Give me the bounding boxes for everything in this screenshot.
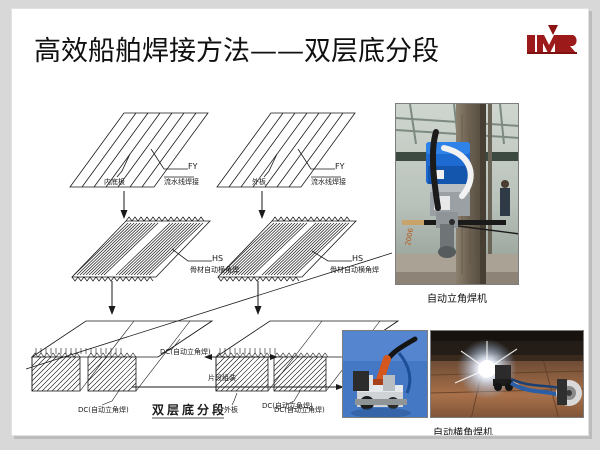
label-fy-left-cn: 流水线焊接 bbox=[164, 177, 199, 187]
label-fy-right-code: FY bbox=[335, 162, 345, 171]
label-weld-join: 片段组装 bbox=[208, 373, 236, 383]
arrow-stage1-to-stage2-right bbox=[259, 191, 266, 219]
label-part-left: 内底板 bbox=[104, 177, 125, 187]
slide-canvas: 高效船舶焊接方法——双层底分段 bbox=[11, 8, 589, 436]
arrow-stage1-to-stage2-left bbox=[121, 191, 128, 219]
stage1-right-panel bbox=[217, 113, 355, 187]
label-fy-right-cn: 流水线焊接 bbox=[311, 177, 346, 187]
stage1-left-panel bbox=[70, 113, 208, 187]
stage3-left-assembly bbox=[32, 321, 212, 405]
label-dc-2: DC(自动立角焊) bbox=[78, 405, 129, 415]
photo-vertical-welder-caption: 自动立角焊机 bbox=[395, 290, 519, 305]
label-hs-right-cn: 骨材自动横角焊 bbox=[330, 265, 379, 275]
photo-vertical-welder: 2006 bbox=[395, 103, 519, 285]
label-hs-right-code: HS bbox=[352, 254, 363, 263]
label-dc-1: DC(自动立角焊) bbox=[160, 347, 211, 357]
photo-welding-carriage bbox=[342, 330, 428, 418]
diagram-main-caption: 双层底分段 bbox=[152, 401, 227, 418]
photo-welding-in-progress bbox=[430, 330, 584, 418]
label-dc-4: DC(自动立角焊) bbox=[274, 405, 325, 415]
photo-horizontal-welder-caption: 自动横角焊机 bbox=[342, 424, 584, 436]
label-part-right: 外板 bbox=[252, 177, 266, 187]
arrow-stage2-to-stage3-right bbox=[255, 281, 262, 315]
label-fy-left-code: FY bbox=[188, 162, 198, 171]
arrow-stage2-to-stage3-left bbox=[109, 281, 116, 315]
label-hs-left-cn: 骨材自动横角焊 bbox=[190, 265, 239, 275]
label-hs-left-code: HS bbox=[212, 254, 223, 263]
